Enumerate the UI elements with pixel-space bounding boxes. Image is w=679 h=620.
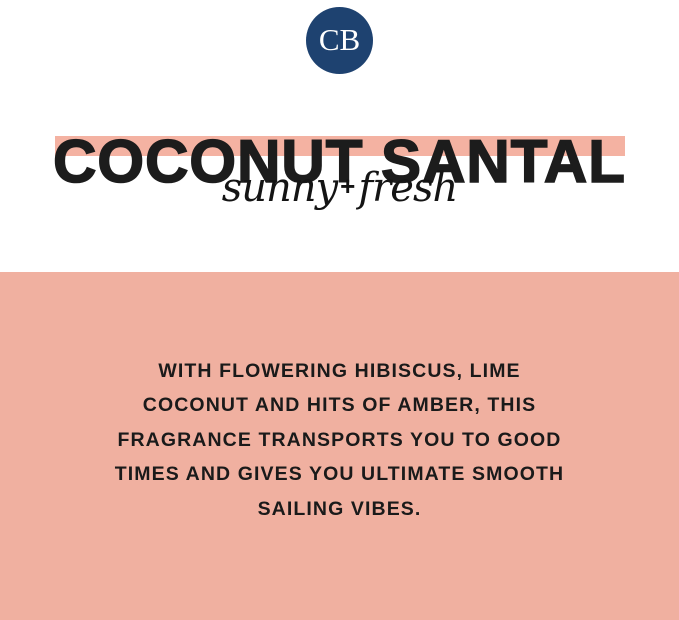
tagline-word-left: sunny (222, 165, 337, 211)
brand-monogram-text: CB (319, 24, 360, 55)
cb-monogram-circle-icon: CB (306, 7, 373, 74)
description-text: WITH FLOWERING HIBISCUS, LIME COCONUT AN… (0, 354, 679, 527)
tagline-separator: + (337, 171, 358, 201)
description-panel: WITH FLOWERING HIBISCUS, LIME COCONUT AN… (0, 272, 679, 620)
tagline-word-right: fresh (358, 165, 457, 211)
tagline: sunny+fresh (0, 162, 679, 214)
brand-logo: CB (306, 7, 373, 74)
product-fragrance-card: CB COCONUT SANTAL sunny+fresh WITH FLOWE… (0, 0, 679, 620)
